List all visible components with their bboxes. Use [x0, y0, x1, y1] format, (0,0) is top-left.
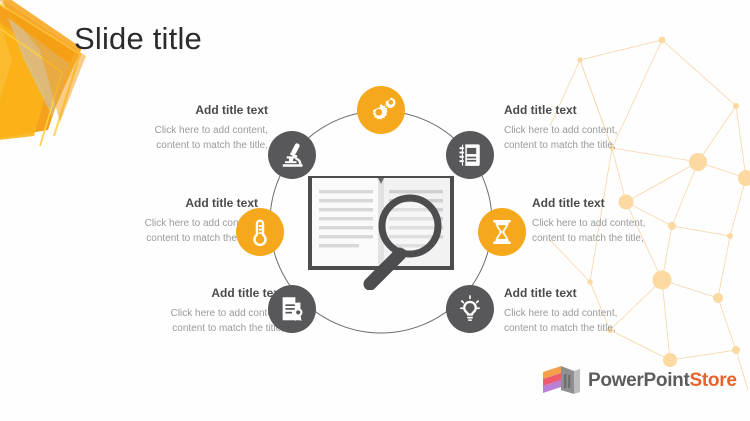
text-block-body-line2: content to match the title,: [86, 231, 258, 247]
text-block-title: Add title text: [96, 103, 268, 119]
powerpointstore-logo[interactable]: PowerPointStore: [541, 364, 737, 398]
slide-canvas: Slide title Add title text Click here to…: [0, 0, 750, 421]
text-block-middle-right: Add title text Click here to add content…: [532, 196, 704, 247]
text-block-body-line1: Click here to add content,: [504, 123, 676, 139]
thermometer-icon: [245, 217, 275, 247]
text-block-bottom-right: Add title text Click here to add content…: [504, 286, 676, 337]
text-block-title: Add title text: [504, 103, 676, 119]
text-block-body-line1: Click here to add content,: [504, 306, 676, 322]
node-hourglass[interactable]: [478, 208, 526, 256]
logo-text-part1: PowerPoint: [588, 370, 690, 391]
text-block-title: Add title text: [504, 286, 676, 302]
text-block-body-line2: content to match the title,: [504, 321, 676, 337]
node-lightbulb[interactable]: [446, 285, 494, 333]
text-block-body-line2: content to match the title,: [96, 138, 268, 154]
microscope-icon: [277, 140, 307, 170]
logo-text-part2: Store: [690, 370, 737, 391]
text-block-title: Add title text: [532, 196, 704, 212]
node-gears[interactable]: [357, 86, 405, 134]
lightbulb-icon: [455, 294, 485, 324]
text-block-body-line1: Click here to add content,: [532, 216, 704, 232]
text-block-body-line2: content to match the title,: [504, 138, 676, 154]
node-thermometer[interactable]: [236, 208, 284, 256]
text-block-body-line1: Click here to add content,: [86, 216, 258, 232]
book-with-magnifier-icon: [300, 168, 462, 290]
text-block-top-left: Add title text Click here to add content…: [96, 103, 268, 154]
node-notebook[interactable]: [446, 131, 494, 179]
node-certificate[interactable]: [268, 285, 316, 333]
gears-icon: [366, 95, 396, 125]
text-block-title: Add title text: [86, 196, 258, 212]
hourglass-icon: [487, 217, 517, 247]
certificate-icon: [277, 294, 307, 324]
text-block-body-line1: Click here to add content,: [96, 123, 268, 139]
node-microscope[interactable]: [268, 131, 316, 179]
circular-diagram: [248, 88, 514, 356]
text-block-body-line2: content to match the title,: [532, 231, 704, 247]
page-title: Slide title: [74, 21, 202, 57]
logo-wordmark: PowerPointStore: [588, 370, 737, 392]
powerpointstore-logo-icon: [541, 364, 581, 398]
text-block-middle-left: Add title text Click here to add content…: [86, 196, 258, 247]
notebook-icon: [455, 140, 485, 170]
text-block-top-right: Add title text Click here to add content…: [504, 103, 676, 154]
